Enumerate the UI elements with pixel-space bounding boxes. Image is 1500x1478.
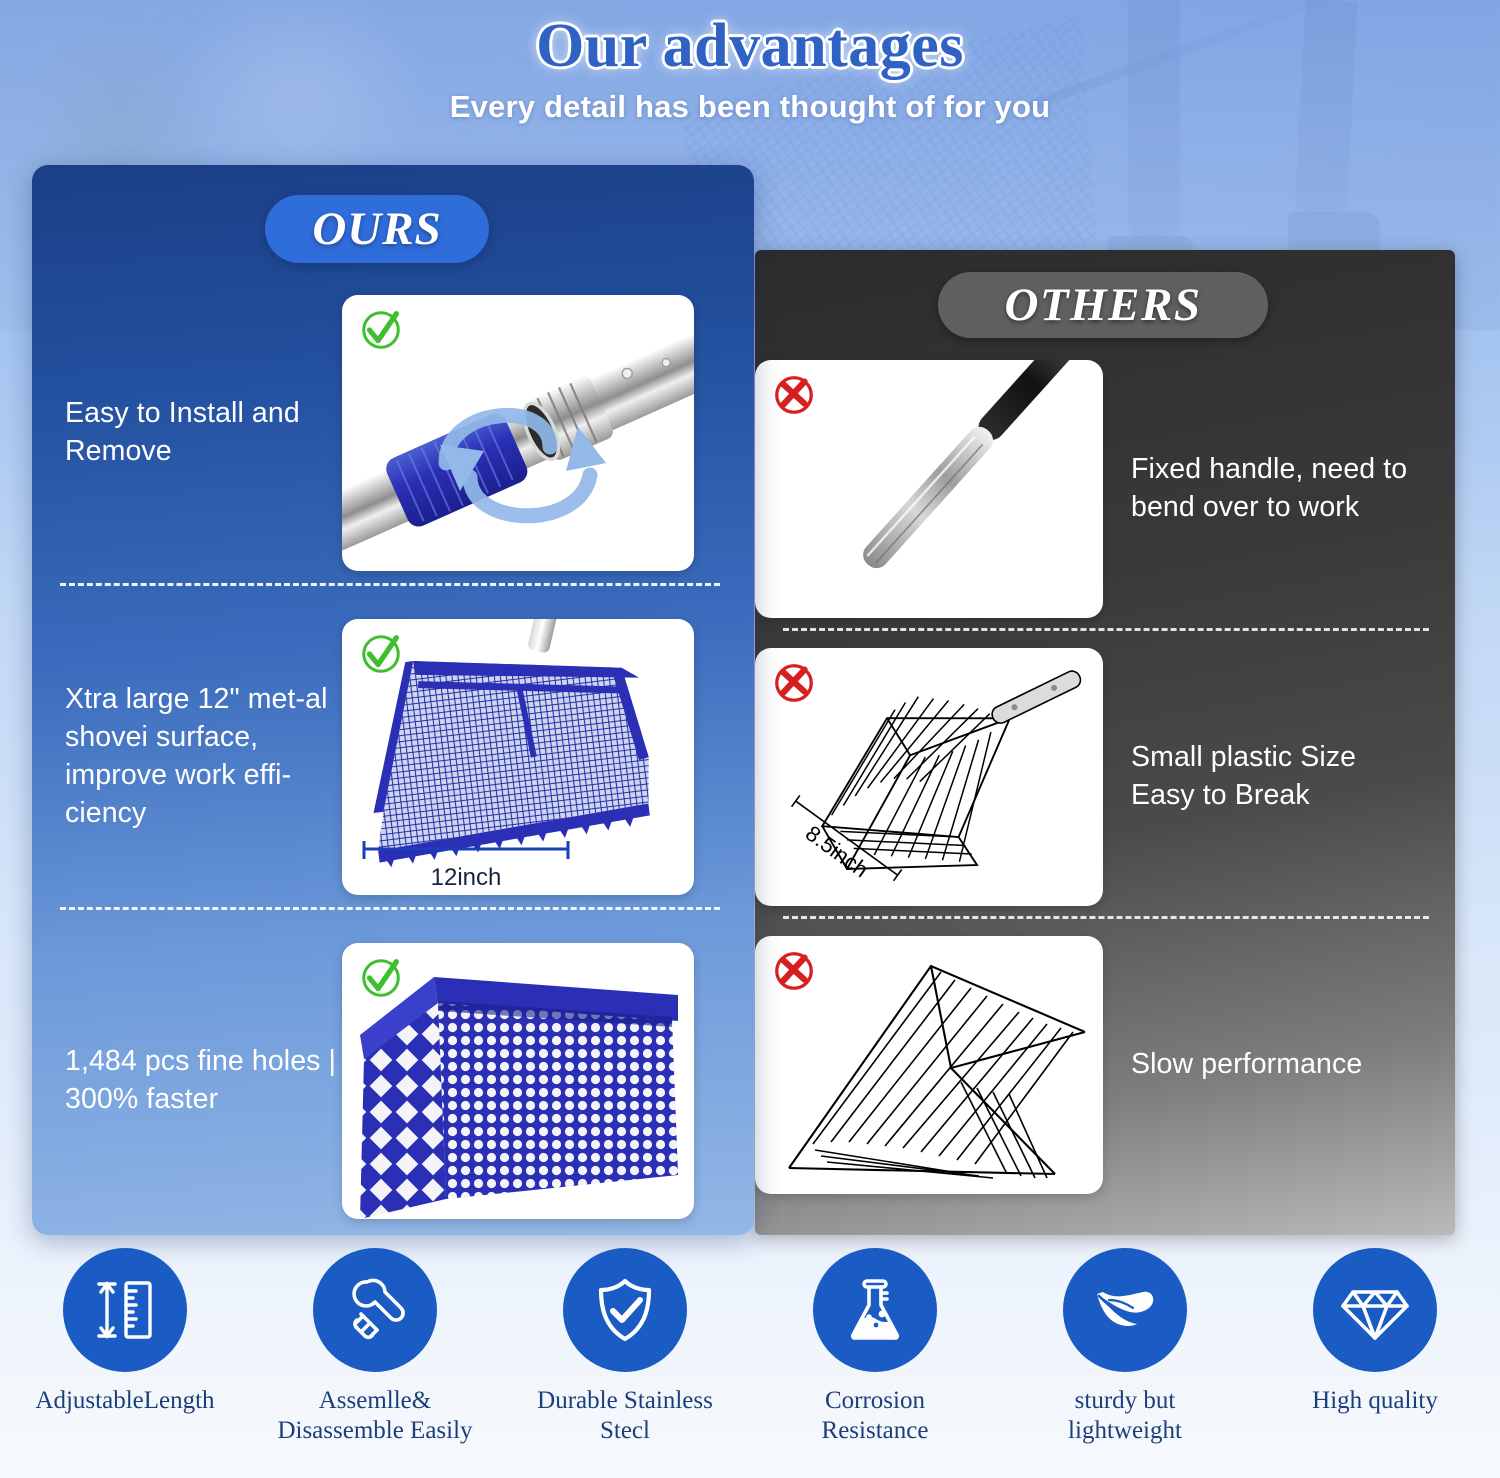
others-badge: OTHERS [938, 272, 1268, 338]
feature-circle [813, 1248, 937, 1372]
others-divider-2 [783, 916, 1429, 919]
others-photo-1 [755, 360, 1103, 618]
others-divider-1 [783, 628, 1429, 631]
feature-item-sturdy-lightweight: sturdy but lightweight [1000, 1248, 1250, 1478]
red-cross-circle-icon [771, 372, 817, 418]
flask-icon [838, 1273, 912, 1347]
others-photo-2: 8.5inch [755, 648, 1103, 906]
feature-circle [563, 1248, 687, 1372]
ruler-icon [88, 1273, 162, 1347]
ours-row-1: Easy to Install and Remove [32, 283, 754, 583]
header: Our advantages Every detail has been tho… [0, 14, 1500, 125]
feature-circle [63, 1248, 187, 1372]
ours-row-3-text: 1,484 pcs fine holes | 300% faster [32, 1043, 342, 1119]
ours-row-2-text: Xtra large 12" met-al shovei surface, im… [32, 681, 342, 833]
feather-icon [1085, 1270, 1165, 1350]
wrench-hand-icon [337, 1272, 413, 1348]
red-cross-circle-icon [771, 660, 817, 706]
ours-divider-1 [60, 583, 720, 586]
feature-label: High quality [1312, 1386, 1438, 1416]
ours-panel: OURS Easy to Install and Remove [32, 165, 754, 1235]
others-row-1-text: Fixed handle, need to bend over to work [1103, 451, 1423, 527]
infographic-page: Our advantages Every detail has been tho… [0, 0, 1500, 1478]
feature-label: Assemlle& Disassemble Easily [277, 1386, 472, 1445]
red-cross-circle-icon [771, 948, 817, 994]
feature-item-assemble-disassemble: Assemlle& Disassemble Easily [250, 1248, 500, 1478]
others-row-2-text: Small plastic Size Easy to Break [1103, 739, 1423, 815]
shield-check-icon [588, 1273, 662, 1347]
feature-item-corrosion-resistance: Corrosion Resistance [750, 1248, 1000, 1478]
ours-row-3: 1,484 pcs fine holes | 300% faster [32, 931, 754, 1231]
others-photo-3 [755, 936, 1103, 1194]
feature-item-adjustable-length: AdjustableLength [0, 1248, 250, 1478]
feature-label: AdjustableLength [35, 1386, 214, 1416]
green-check-circle-icon [358, 631, 404, 677]
feature-circle [1313, 1248, 1437, 1372]
ours-photo-3 [342, 943, 694, 1219]
feature-item-durable-stainless-steel: Durable Stainless Stecl [500, 1248, 750, 1478]
ours-badge: OURS [265, 195, 489, 263]
others-row-1: Fixed handle, need to bend over to work [755, 350, 1455, 628]
feature-strip: AdjustableLength Assemlle& Disassemble E… [0, 1248, 1500, 1478]
ours-photo-1 [342, 295, 694, 571]
green-check-circle-icon [358, 307, 404, 353]
ours-row-2: Xtra large 12" met-al shovei surface, im… [32, 607, 754, 907]
green-check-circle-icon [358, 955, 404, 1001]
ours-divider-2 [60, 907, 720, 910]
diamond-icon [1337, 1272, 1413, 1348]
feature-label: Corrosion Resistance [822, 1386, 929, 1445]
others-row-3: Slow performance [755, 926, 1455, 1204]
comparison-section: OTHERS [0, 165, 1500, 1235]
ours-photo-2: 12inch [342, 619, 694, 895]
others-row-2: 8.5inch Small plastic Size Easy to Break [755, 638, 1455, 916]
feature-label: Durable Stainless Stecl [537, 1386, 713, 1445]
ours-row-1-text: Easy to Install and Remove [32, 395, 342, 471]
page-title: Our advantages [0, 14, 1500, 79]
feature-circle [313, 1248, 437, 1372]
feature-circle [1063, 1248, 1187, 1372]
others-panel: OTHERS [755, 250, 1455, 1235]
ours-size-caption: 12inch [431, 864, 502, 891]
feature-item-high-quality: High quality [1250, 1248, 1500, 1478]
page-subtitle: Every detail has been thought of for you [0, 89, 1500, 125]
others-row-3-text: Slow performance [1103, 1046, 1423, 1084]
feature-label: sturdy but lightweight [1068, 1386, 1182, 1445]
